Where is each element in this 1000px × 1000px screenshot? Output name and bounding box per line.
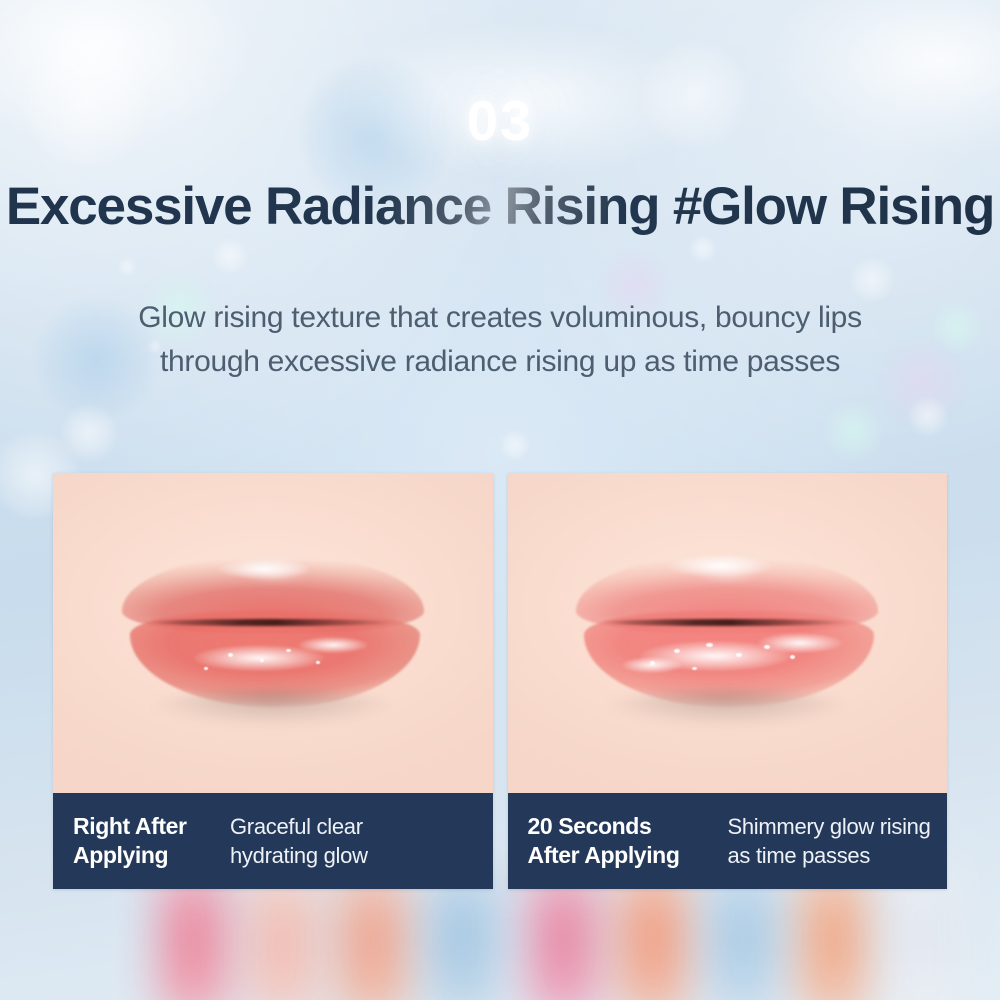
lip-photo-right-after-applying xyxy=(53,473,493,793)
shimmer-speck xyxy=(674,649,680,653)
bokeh-circle xyxy=(212,238,248,274)
subtitle-line-2: through excessive radiance rising up as … xyxy=(0,340,1000,384)
gloss-highlight xyxy=(622,657,682,673)
shimmer-speck xyxy=(736,653,742,657)
caption-stage-label: Right After Applying xyxy=(73,812,228,870)
shimmer-speck xyxy=(228,653,233,657)
lip-under-shadow xyxy=(148,691,398,727)
page-title: Excessive Radiance Rising #Glow Rising xyxy=(0,176,1000,237)
comparison-panel-after[interactable]: 20 Seconds After Applying Shimmery glow … xyxy=(508,473,948,889)
shimmer-speck xyxy=(692,667,697,670)
promo-page: 03 Excessive Radiance Rising #Glow Risin… xyxy=(0,0,1000,1000)
gloss-highlight xyxy=(218,559,310,579)
comparison-panels: Right After Applying Graceful clear hydr… xyxy=(53,473,947,889)
bokeh-circle xyxy=(822,400,884,462)
shimmer-speck xyxy=(650,661,655,665)
panel-caption-after: 20 Seconds After Applying Shimmery glow … xyxy=(508,793,948,889)
bokeh-circle xyxy=(60,404,118,462)
shimmer-speck xyxy=(316,661,320,664)
step-number: 03 xyxy=(0,88,1000,153)
caption-description: Shimmery glow rising as time passes xyxy=(728,812,931,870)
lip-under-shadow xyxy=(602,691,852,727)
comparison-panel-before[interactable]: Right After Applying Graceful clear hydr… xyxy=(53,473,493,889)
lip-photo-20-seconds-after-applying xyxy=(508,473,948,793)
lip-seam-line xyxy=(146,619,396,626)
shimmer-speck xyxy=(764,645,770,649)
lips-illustration xyxy=(108,549,438,729)
shimmer-speck xyxy=(706,643,713,647)
bokeh-circle xyxy=(690,236,716,262)
panel-caption-before: Right After Applying Graceful clear hydr… xyxy=(53,793,493,889)
lips-illustration xyxy=(562,549,892,729)
lip-seam-line xyxy=(600,619,850,626)
bokeh-circle xyxy=(500,430,530,460)
page-subtitle: Glow rising texture that creates volumin… xyxy=(0,296,1000,384)
bokeh-circle xyxy=(908,396,948,436)
shimmer-speck xyxy=(790,655,795,659)
bokeh-circle xyxy=(118,258,136,276)
gloss-highlight xyxy=(758,633,842,653)
gloss-highlight xyxy=(668,555,772,577)
shimmer-speck xyxy=(286,649,291,652)
caption-description: Graceful clear hydrating glow xyxy=(230,812,368,870)
shimmer-speck xyxy=(260,659,264,662)
gloss-highlight xyxy=(298,637,368,653)
subtitle-line-1: Glow rising texture that creates volumin… xyxy=(0,296,1000,340)
shimmer-speck xyxy=(204,667,208,670)
caption-stage-label: 20 Seconds After Applying xyxy=(528,812,724,870)
